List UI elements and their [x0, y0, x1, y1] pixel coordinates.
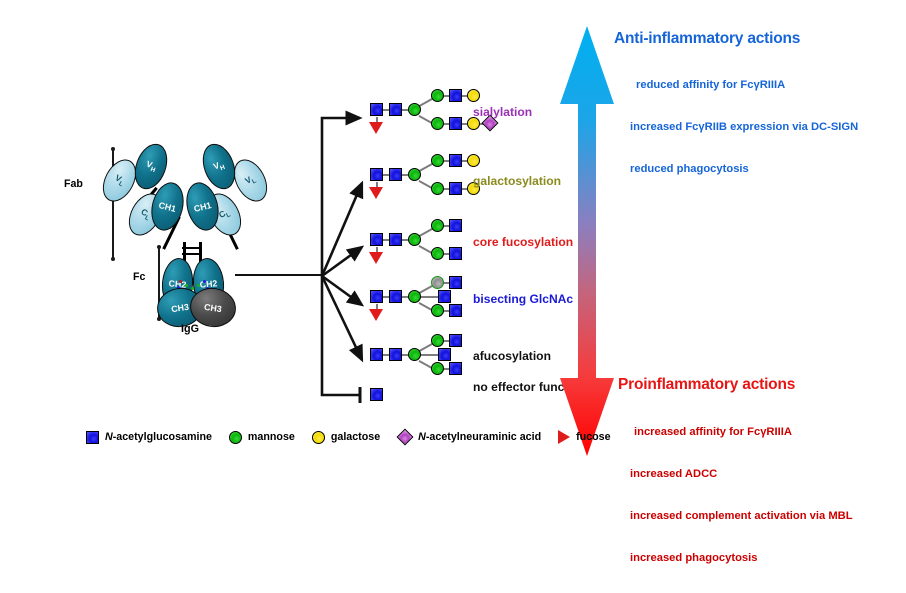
vh-sub: H [149, 166, 156, 174]
glcnac-square [449, 247, 462, 260]
fab-label: Fab [64, 178, 83, 190]
disulfide-bond-2 [182, 253, 202, 255]
fucose-triangle [369, 122, 383, 134]
glycoform-sialylation [370, 90, 490, 145]
glcnac-square-icon [86, 431, 99, 444]
cl-sub-2: L [225, 212, 232, 220]
anti-item-1: increased FcγRIIB expression via DC-SIGN [630, 120, 858, 136]
legend-label-fucose: fucose [576, 431, 610, 443]
mannose-circle [431, 182, 444, 195]
branching-arrows [300, 95, 380, 405]
glcnac-square [389, 290, 402, 303]
glycoform-label-sialylation: sialylation [473, 105, 532, 119]
fab-bracket-dot-bottom [111, 257, 115, 261]
legend-item-neuac: N-acetylneuraminic acid [397, 431, 541, 443]
proinflammatory-title: Proinflammatory actions [618, 376, 795, 394]
fucose-triangle [369, 309, 383, 321]
anti-item-0: reduced affinity for FcγRIIIA [636, 78, 858, 94]
mannose-circle [431, 247, 444, 260]
fab-bracket-dot-top [111, 147, 115, 151]
mannose-circle [408, 290, 421, 303]
glcnac-square [449, 182, 462, 195]
glycoform-core-fucosylation [370, 220, 490, 275]
glcnac-square [449, 89, 462, 102]
mannose-circle [431, 334, 444, 347]
proinflammatory-list: increased affinity for FcγRIIIA increase… [630, 399, 853, 593]
legend-label-mannose: mannose [248, 431, 295, 443]
glcnac-square [449, 362, 462, 375]
pro-item-3: increased phagocytosis [630, 551, 853, 567]
mannose-circle [408, 168, 421, 181]
fc-label: Fc [133, 271, 145, 283]
glcnac-square [449, 334, 462, 347]
mannose-circle-icon [229, 431, 242, 444]
mannose-circle [431, 117, 444, 130]
mannose-circle [431, 362, 444, 375]
glycoform-no-effector [370, 388, 410, 408]
mannose-circle [408, 233, 421, 246]
vl-sub-2: L [251, 178, 258, 186]
fc-bracket-dot-top [157, 245, 161, 249]
glcnac-square [449, 304, 462, 317]
bisecting-glcnac-square [438, 290, 451, 303]
galactose-circle-icon [312, 431, 325, 444]
glcnac-square [449, 154, 462, 167]
legend-item-glcnac: N-acetylglucosamine [86, 431, 212, 444]
glcnac-square [449, 219, 462, 232]
inflammation-gradient-arrow [556, 24, 618, 458]
glcnac-square [370, 348, 383, 361]
anti-inflammatory-list: reduced affinity for FcγRIIIA increased … [630, 52, 858, 204]
pro-item-1: increased ADCC [630, 467, 853, 483]
glcnac-square [449, 276, 462, 289]
glcnac-square [370, 168, 383, 181]
legend-item-mannose: mannose [229, 431, 295, 444]
mannose-circle [431, 219, 444, 232]
glcnac-square [389, 233, 402, 246]
glycoform-galactosylation [370, 155, 490, 210]
glcnac-square [370, 103, 383, 116]
legend-item-fucose: fucose [558, 430, 610, 444]
igg-label: IgG [181, 323, 199, 335]
glcnac-square [370, 290, 383, 303]
fucose-triangle-icon [558, 430, 570, 444]
glcnac-square [389, 103, 402, 116]
legend-item-galactose: galactose [312, 431, 380, 444]
pro-item-0: increased affinity for FcγRIIIA [634, 425, 853, 441]
glcnac-square [370, 388, 383, 401]
mannose-circle [408, 103, 421, 116]
galactose-circle [467, 154, 480, 167]
anti-item-2: reduced phagocytosis [630, 162, 858, 178]
glcnac-square [389, 168, 402, 181]
glcnac-square [389, 348, 402, 361]
glycoform-label-afucosylation: afucosylation [473, 349, 551, 363]
glcnac-square [449, 117, 462, 130]
vh-sub-2: H [219, 164, 226, 172]
anti-inflammatory-title: Anti-inflammatory actions [614, 30, 800, 48]
mannose-circle [431, 154, 444, 167]
mannose-circle [431, 89, 444, 102]
fucose-triangle [369, 252, 383, 264]
glycoform-bisecting-glcnac [370, 277, 490, 332]
disulfide-bond-1 [182, 247, 202, 249]
glycoform-label-galactosylation: galactosylation [473, 174, 561, 188]
mannose-circle [431, 304, 444, 317]
legend-label-galactose: galactose [331, 431, 380, 443]
glycoform-afucosylation [370, 335, 490, 390]
mannose-circle-modified [431, 276, 444, 289]
galactose-circle [467, 89, 480, 102]
pro-item-2: increased complement activation via MBL [630, 509, 853, 525]
mannose-circle [408, 348, 421, 361]
bisecting-glcnac-square [438, 348, 451, 361]
sialic-acid-diamond-icon [396, 429, 413, 446]
vl-sub: L [117, 180, 124, 188]
glcnac-square [370, 233, 383, 246]
figure-canvas: Fab Fc VL CL VH CH1 VL CL VH CH1 [0, 0, 906, 466]
legend-label-neuac: N-acetylneuraminic acid [418, 431, 541, 443]
legend-label-glcnac: N-acetylglucosamine [105, 431, 212, 443]
legend: N-acetylglucosamine mannose galactose N-… [86, 430, 628, 444]
fucose-triangle [369, 187, 383, 199]
igg-antibody-diagram: Fab Fc VL CL VH CH1 VL CL VH CH1 [0, 0, 320, 420]
